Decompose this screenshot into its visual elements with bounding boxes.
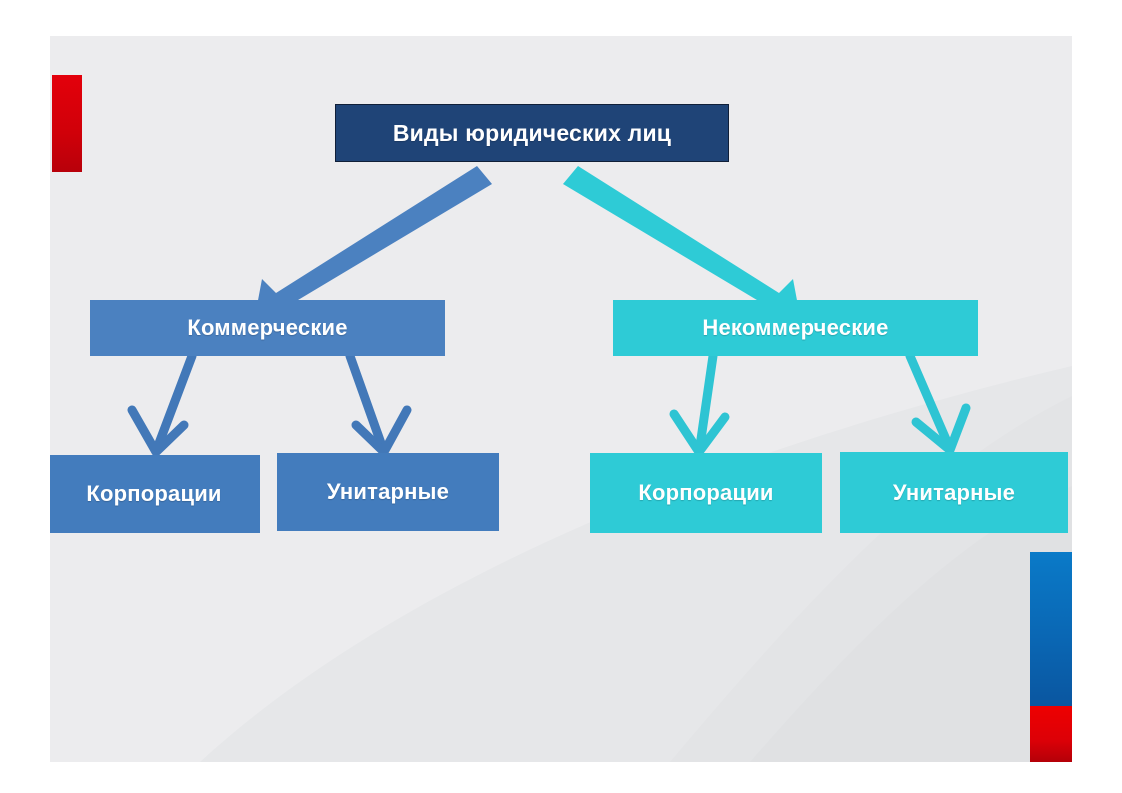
node-noncommercial-corporations-label: Корпорации [638,480,773,506]
connector-commercial-to-unitary [350,356,407,452]
connector-noncommercial-to-corporations [674,356,725,452]
connector-commercial-to-corporations [132,356,192,452]
node-noncommercial[interactable]: Некоммерческие [613,300,978,356]
node-commercial-unitary-label: Унитарные [327,479,449,505]
connector-noncommercial-to-unitary [910,356,966,450]
node-commercial[interactable]: Коммерческие [90,300,445,356]
node-commercial-label: Коммерческие [187,315,347,341]
node-noncommercial-label: Некоммерческие [702,315,888,341]
node-noncommercial-unitary[interactable]: Унитарные [840,452,1068,533]
node-root[interactable]: Виды юридических лиц [335,104,729,162]
slide-canvas: Виды юридических лиц Коммерческие Некомм… [50,36,1072,762]
node-noncommercial-unitary-label: Унитарные [893,480,1015,506]
node-commercial-corporations[interactable]: Корпорации [50,455,260,533]
node-noncommercial-corporations[interactable]: Корпорации [590,453,822,533]
node-root-label: Виды юридических лиц [393,120,671,147]
node-commercial-corporations-label: Корпорации [86,481,221,507]
hierarchy-diagram: Виды юридических лиц Коммерческие Некомм… [50,36,1072,762]
node-commercial-unitary[interactable]: Унитарные [277,453,499,531]
